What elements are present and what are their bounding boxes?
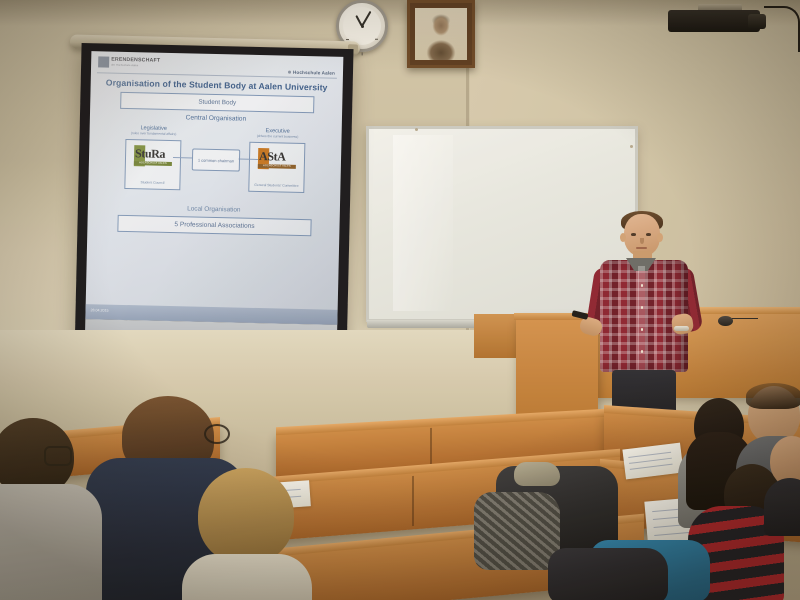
presenter-right-forearm	[671, 313, 695, 336]
jacket-patterned	[474, 492, 560, 570]
shirt-button	[641, 328, 644, 331]
legislative-subheading: (rules over fundamental affairs)	[118, 132, 190, 137]
student-body-box: Student Body	[120, 92, 314, 113]
lecture-hall-photo: ERENDENSCHAFT der Hochschule Aalen Hochs…	[0, 0, 800, 600]
professional-associations-box: 5 Professional Associations	[117, 215, 311, 236]
framed-portrait	[407, 0, 475, 68]
hochschule-aalen-logo: Hochschule Aalen	[288, 70, 335, 76]
asta-logo-band: HOCHSCHULE AALEN	[258, 164, 296, 169]
eyeglasses-icon	[44, 446, 72, 466]
student-blonde	[176, 468, 316, 600]
presenter-ear	[657, 233, 663, 242]
asta-logo-text: AStA	[258, 149, 296, 165]
presenter-head	[624, 214, 660, 256]
stura-logo-band: HOCHSCHULE AALEN	[134, 161, 172, 166]
computer-mouse	[718, 316, 733, 326]
executive-subheading: (drives the current business)	[241, 135, 313, 140]
logo-mark-icon	[98, 56, 109, 67]
projection-screen: ERENDENSCHAFT der Hochschule Aalen Hochs…	[74, 43, 353, 364]
stura-logo: StuRa HOCHSCHULE AALEN	[134, 145, 172, 167]
studierendenschaft-logo: ERENDENSCHAFT der Hochschule Aalen	[98, 56, 160, 68]
shirt-button	[641, 306, 644, 309]
logo-subtext: der Hochschule Aalen	[111, 64, 160, 68]
eyeglasses-icon	[204, 424, 230, 444]
whiteboard-screw	[415, 128, 418, 131]
portrait-image	[415, 8, 467, 60]
stura-caption: Student Council	[125, 180, 179, 185]
student-light-top	[182, 554, 312, 600]
presenter-ear	[620, 233, 626, 242]
desk-seam	[430, 428, 432, 468]
presenter-nose	[640, 238, 644, 244]
clock-face	[343, 7, 381, 45]
shirt-button	[641, 284, 644, 287]
stura-card: StuRa HOCHSCHULE AALEN Student Council	[124, 139, 181, 190]
shirt-button	[641, 350, 644, 353]
presenter-eye	[631, 233, 636, 236]
mouse-cord	[732, 318, 758, 319]
asta-caption: General Students' Committee	[249, 183, 303, 188]
projector-body	[668, 10, 760, 32]
asta-card: AStA HOCHSCHULE AALEN General Students' …	[248, 142, 305, 193]
jacket-dark-front	[548, 548, 668, 600]
student-grey-top	[0, 484, 102, 600]
hochschule-dot-icon	[288, 71, 291, 74]
common-chairman-box: 1 common chairman	[192, 148, 240, 171]
presenter-eye	[646, 233, 651, 236]
student-hair	[746, 383, 800, 409]
presenter-shirt-placket	[638, 266, 645, 370]
projector-cable	[764, 6, 800, 52]
presentation-slide: ERENDENSCHAFT der Hochschule Aalen Hochs…	[85, 51, 343, 325]
student-grey-sweater	[0, 418, 108, 600]
whiteboard-screw	[630, 145, 633, 148]
asta-logo: AStA HOCHSCHULE AALEN	[258, 148, 296, 170]
central-organisation-label: Central Organisation	[90, 112, 342, 125]
slide-surface: ERENDENSCHAFT der Hochschule Aalen Hochs…	[85, 51, 343, 325]
ceiling-projector	[668, 4, 776, 34]
slide-footer-date: 28.04.2015	[91, 308, 109, 312]
whiteboard-glare	[393, 135, 453, 311]
presenter-wristwatch	[674, 326, 689, 331]
student-far-right	[770, 436, 800, 526]
student-top	[764, 478, 800, 536]
clock-center-pin	[361, 25, 364, 28]
desk-seam	[412, 476, 414, 526]
local-organisation-label: Local Organisation	[88, 203, 340, 216]
hat-beige	[514, 462, 560, 486]
executive-column: Executive (drives the current business) …	[240, 128, 313, 194]
slide-header: ERENDENSCHAFT der Hochschule Aalen Hochs…	[91, 51, 343, 81]
stura-logo-text: StuRa	[134, 146, 172, 162]
student-blonde-hair	[198, 468, 294, 564]
side-counter	[474, 314, 522, 358]
hochschule-label: Hochschule Aalen	[293, 70, 335, 76]
